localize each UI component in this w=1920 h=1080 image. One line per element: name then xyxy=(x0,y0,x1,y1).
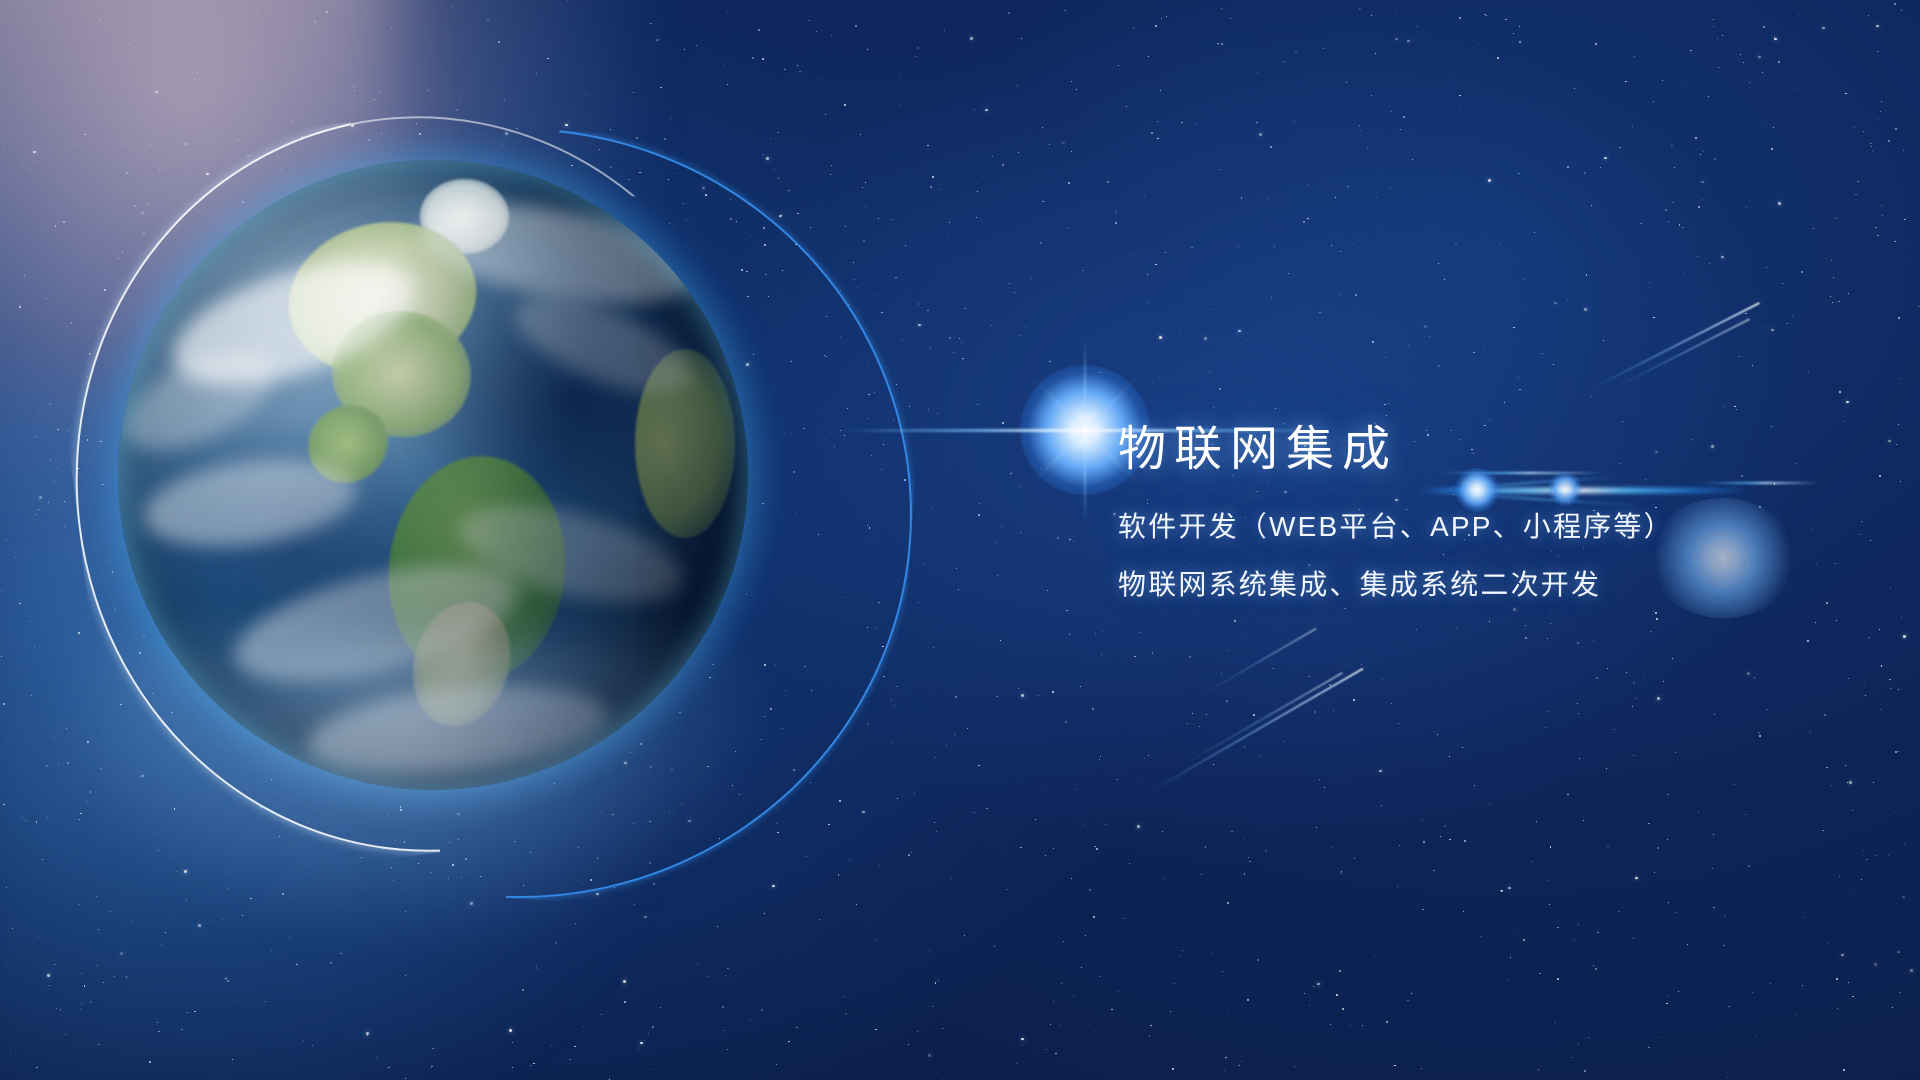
star-dot xyxy=(33,161,35,163)
star-dot xyxy=(964,308,965,309)
star-dot xyxy=(818,78,819,79)
star-dot xyxy=(1102,448,1103,449)
star-dot xyxy=(1807,640,1809,642)
star-dot xyxy=(940,189,941,190)
star-dot xyxy=(1304,993,1305,994)
star-dot xyxy=(1335,197,1336,198)
star-dot xyxy=(1675,912,1677,913)
star-dot xyxy=(1864,685,1865,686)
star-dot xyxy=(1868,637,1869,638)
star-dot xyxy=(448,878,449,879)
star-dot xyxy=(1614,729,1615,730)
star-dot xyxy=(1386,415,1387,416)
star-dot xyxy=(796,1027,798,1028)
star-dot xyxy=(1734,784,1735,785)
star-dot xyxy=(1740,54,1741,55)
star-dot xyxy=(937,413,938,414)
star-dot xyxy=(1504,402,1505,403)
star-dot xyxy=(1871,146,1873,148)
star-dot xyxy=(1536,820,1538,822)
star-dot xyxy=(1657,847,1660,850)
star-dot xyxy=(1371,95,1373,96)
star-dot xyxy=(1757,732,1759,734)
star-dot xyxy=(1002,422,1004,424)
star-dot xyxy=(1550,623,1552,624)
star-dot xyxy=(461,877,463,879)
star-dot xyxy=(222,918,223,919)
star-dot xyxy=(1480,936,1481,937)
star-dot xyxy=(805,856,807,857)
star-dot xyxy=(1844,421,1845,422)
star-dot xyxy=(1635,698,1637,699)
star-dot xyxy=(379,91,381,92)
star-dot xyxy=(770,138,771,139)
star-dot xyxy=(49,459,51,460)
star-dot xyxy=(670,118,671,119)
star-dot xyxy=(583,1026,584,1027)
star-dot xyxy=(1822,830,1824,831)
star-dot xyxy=(480,876,481,877)
star-dot xyxy=(1257,72,1258,73)
star-dot xyxy=(405,974,407,976)
star-dot xyxy=(1238,330,1241,332)
star-dot xyxy=(1068,227,1069,228)
star-dot xyxy=(1766,709,1768,711)
star-dot xyxy=(1021,694,1024,697)
star-dot xyxy=(951,878,952,879)
star-dot xyxy=(1323,48,1324,49)
star-dot xyxy=(977,191,978,192)
star-dot xyxy=(1667,793,1669,795)
star-dot xyxy=(312,1045,314,1047)
star-dot xyxy=(303,1040,305,1041)
star-dot xyxy=(1717,38,1718,39)
star-dot xyxy=(1554,302,1557,304)
star-dot xyxy=(1256,121,1258,123)
star-dot xyxy=(1557,927,1558,928)
star-dot xyxy=(1361,664,1362,665)
star-dot xyxy=(1354,858,1355,859)
star-dot xyxy=(1890,588,1891,589)
star-dot xyxy=(79,148,81,149)
star-dot xyxy=(1863,850,1864,851)
star-dot xyxy=(1000,640,1001,641)
star-dot xyxy=(1836,620,1838,621)
star-dot xyxy=(1339,970,1341,972)
star-dot xyxy=(962,358,964,360)
star-dot xyxy=(1598,1010,1599,1011)
star-dot xyxy=(3,148,5,149)
star-dot xyxy=(20,73,21,74)
star-dot xyxy=(1770,983,1771,984)
star-dot xyxy=(365,1031,369,1035)
star-dot xyxy=(1241,1061,1242,1062)
star-dot xyxy=(1836,1008,1838,1010)
star-dot xyxy=(1501,890,1503,892)
star-dot xyxy=(1422,909,1423,910)
star-dot xyxy=(166,130,168,131)
flare-vertical-streak xyxy=(1084,338,1086,522)
star-dot xyxy=(1165,252,1166,253)
star-dot xyxy=(533,1063,534,1064)
star-dot xyxy=(1338,78,1339,79)
star-dot xyxy=(1149,1035,1150,1036)
star-dot xyxy=(997,575,998,576)
star-dot xyxy=(66,728,67,729)
star-dot xyxy=(1147,274,1148,275)
star-dot xyxy=(881,312,883,314)
star-dot xyxy=(1346,82,1347,83)
star-dot xyxy=(1852,996,1853,997)
star-dot xyxy=(1863,131,1864,132)
star-dot xyxy=(1499,890,1501,892)
star-dot xyxy=(862,187,863,188)
star-dot xyxy=(664,138,666,140)
star-dot xyxy=(660,87,661,88)
star-dot xyxy=(1116,779,1118,780)
star-dot xyxy=(1590,396,1592,397)
star-dot xyxy=(978,514,980,515)
star-dot xyxy=(1850,892,1852,894)
star-dot xyxy=(808,19,810,21)
star-dot xyxy=(1065,721,1067,723)
star-dot xyxy=(1666,1003,1667,1004)
star-dot xyxy=(1350,1025,1351,1026)
star-dot xyxy=(1314,711,1316,713)
star-dot xyxy=(1542,353,1543,354)
star-dot xyxy=(636,137,638,139)
star-dot xyxy=(125,144,126,145)
star-dot xyxy=(1473,784,1475,786)
star-dot xyxy=(1105,824,1106,825)
star-dot xyxy=(1371,15,1373,16)
star-dot xyxy=(109,9,110,10)
star-dot xyxy=(575,923,576,924)
star-dot xyxy=(1259,133,1262,136)
star-dot xyxy=(1115,212,1116,213)
star-dot xyxy=(1449,839,1450,840)
star-dot xyxy=(1897,317,1899,319)
star-dot xyxy=(1213,764,1214,765)
star-dot xyxy=(1455,244,1457,245)
star-dot xyxy=(1217,43,1219,45)
star-dot xyxy=(157,849,159,851)
star-dot xyxy=(1675,786,1676,787)
star-dot xyxy=(155,91,158,93)
star-dot xyxy=(75,143,77,145)
star-dot xyxy=(37,509,38,510)
star-dot xyxy=(825,114,826,115)
star-dot xyxy=(449,842,450,843)
star-dot xyxy=(318,58,319,59)
star-dot xyxy=(1545,727,1546,728)
star-dot xyxy=(1519,389,1521,390)
shooting-star-mid-b xyxy=(1182,672,1343,766)
star-dot xyxy=(896,384,898,386)
star-dot xyxy=(1199,726,1201,728)
star-dot xyxy=(1443,629,1444,630)
star-dot xyxy=(1259,755,1261,757)
star-dot xyxy=(1088,1025,1090,1027)
star-dot xyxy=(1672,202,1674,204)
star-dot xyxy=(98,1044,99,1045)
star-dot xyxy=(932,176,934,178)
star-dot xyxy=(1081,967,1083,969)
star-dot xyxy=(875,939,876,940)
star-dot xyxy=(391,28,393,30)
star-dot xyxy=(25,820,26,821)
star-dot xyxy=(1898,378,1900,380)
star-dot xyxy=(1898,751,1899,752)
star-dot xyxy=(974,812,975,813)
star-dot xyxy=(1838,301,1839,302)
star-dot xyxy=(1593,965,1594,966)
star-dot xyxy=(418,863,419,864)
star-dot xyxy=(1234,620,1236,622)
star-dot xyxy=(1713,907,1715,909)
star-dot xyxy=(1430,266,1431,267)
star-dot xyxy=(946,745,948,747)
star-dot xyxy=(944,30,945,31)
star-dot xyxy=(1228,650,1230,651)
star-dot xyxy=(1353,244,1355,245)
star-dot xyxy=(1707,95,1709,97)
star-dot xyxy=(927,1053,931,1057)
star-dot xyxy=(1099,759,1100,760)
star-dot xyxy=(1220,42,1223,45)
star-dot xyxy=(465,858,468,861)
star-dot xyxy=(1094,633,1096,635)
star-dot xyxy=(853,262,854,263)
star-dot xyxy=(1671,145,1673,147)
star-dot xyxy=(1486,15,1488,16)
star-dot xyxy=(1663,681,1664,682)
star-dot xyxy=(1879,475,1882,478)
star-dot xyxy=(917,1031,918,1032)
star-dot xyxy=(53,736,54,737)
star-dot xyxy=(696,45,697,46)
star-dot xyxy=(1324,787,1326,789)
star-dot xyxy=(1094,846,1095,847)
star-dot xyxy=(1892,1007,1894,1008)
star-dot xyxy=(1313,986,1315,987)
star-dot xyxy=(1872,151,1873,152)
star-dot xyxy=(1174,983,1176,985)
star-dot xyxy=(1390,187,1392,188)
star-dot xyxy=(89,353,91,355)
star-dot xyxy=(1148,755,1149,756)
star-dot xyxy=(1416,26,1417,27)
star-dot xyxy=(1082,270,1084,271)
star-dot xyxy=(1331,846,1332,847)
star-dot xyxy=(1179,956,1180,957)
star-dot xyxy=(1447,1058,1449,1060)
star-dot xyxy=(198,924,201,927)
star-dot xyxy=(788,1040,790,1042)
star-dot xyxy=(762,154,763,155)
star-dot xyxy=(777,832,778,833)
star-dot xyxy=(1210,309,1211,310)
star-dot xyxy=(393,880,394,881)
star-dot xyxy=(1424,325,1428,329)
star-dot xyxy=(937,1072,938,1073)
star-dot xyxy=(831,35,832,36)
star-dot xyxy=(1219,388,1221,390)
star-dot xyxy=(1319,312,1320,313)
star-dot xyxy=(57,467,58,468)
star-dot xyxy=(1071,151,1072,152)
star-dot xyxy=(243,72,245,73)
star-dot xyxy=(1796,1014,1797,1015)
star-dot xyxy=(650,23,651,24)
star-dot xyxy=(1244,746,1245,747)
star-dot xyxy=(1083,824,1084,825)
star-dot xyxy=(48,502,49,503)
star-dot xyxy=(1848,293,1849,294)
star-dot xyxy=(1391,703,1392,704)
star-dot xyxy=(1315,826,1317,828)
star-dot xyxy=(1624,80,1626,82)
star-dot xyxy=(1882,215,1883,216)
star-dot xyxy=(66,326,67,327)
star-dot xyxy=(1709,263,1711,265)
star-dot xyxy=(1459,95,1460,96)
star-dot xyxy=(96,896,97,897)
star-dot xyxy=(1340,294,1341,295)
star-dot xyxy=(185,143,187,145)
star-dot xyxy=(131,921,132,922)
star-dot xyxy=(843,996,845,998)
star-dot xyxy=(1162,831,1164,832)
star-dot xyxy=(1895,128,1897,129)
star-dot xyxy=(567,0,569,1)
star-dot xyxy=(376,1056,378,1058)
star-dot xyxy=(1701,181,1704,183)
star-dot xyxy=(365,8,367,10)
star-dot xyxy=(624,1001,626,1003)
star-dot xyxy=(1881,101,1882,102)
star-dot xyxy=(726,11,728,13)
star-dot xyxy=(242,915,243,916)
star-dot xyxy=(1360,130,1361,131)
star-dot xyxy=(1342,1007,1344,1009)
star-dot xyxy=(1221,8,1222,9)
star-dot xyxy=(1398,723,1400,725)
star-dot xyxy=(1422,820,1423,821)
star-dot xyxy=(1348,153,1350,155)
star-dot xyxy=(1270,146,1272,148)
star-dot xyxy=(1244,873,1245,874)
star-dot xyxy=(1257,959,1259,961)
star-dot xyxy=(1294,121,1295,122)
star-dot xyxy=(1241,638,1243,640)
star-dot xyxy=(1861,521,1862,522)
star-dot xyxy=(1473,352,1474,353)
star-dot xyxy=(1778,202,1781,205)
star-dot xyxy=(432,1048,433,1049)
star-dot xyxy=(1548,879,1550,881)
star-dot xyxy=(656,38,660,41)
star-dot xyxy=(634,904,635,905)
star-dot xyxy=(87,741,89,742)
star-dot xyxy=(1547,638,1549,639)
star-dot xyxy=(1903,150,1904,151)
star-dot xyxy=(845,1013,846,1014)
star-dot xyxy=(1595,43,1597,45)
star-dot xyxy=(1006,889,1008,890)
star-dot xyxy=(638,1049,639,1050)
star-dot xyxy=(504,100,505,101)
star-dot xyxy=(788,190,790,191)
star-dot xyxy=(522,988,524,990)
star-dot xyxy=(909,406,910,407)
star-dot xyxy=(1713,18,1715,19)
star-dot xyxy=(923,564,925,566)
star-dot xyxy=(799,71,800,72)
star-dot xyxy=(250,898,252,899)
star-dot xyxy=(1888,140,1891,143)
star-dot xyxy=(1573,940,1575,941)
star-dot xyxy=(902,339,903,340)
star-dot xyxy=(955,696,957,698)
star-dot xyxy=(467,874,469,876)
star-dot xyxy=(1508,979,1509,980)
star-dot xyxy=(918,324,921,326)
star-dot xyxy=(783,69,785,71)
star-dot xyxy=(388,1066,390,1068)
star-dot xyxy=(961,342,963,344)
star-dot xyxy=(949,337,951,339)
star-dot xyxy=(831,165,832,166)
star-dot xyxy=(1603,340,1605,341)
star-dot xyxy=(596,893,600,896)
star-dot xyxy=(98,794,99,795)
star-dot xyxy=(1306,218,1308,220)
star-dot xyxy=(623,980,626,983)
star-dot xyxy=(1041,408,1042,409)
star-dot xyxy=(1456,628,1457,629)
star-dot xyxy=(996,542,997,543)
star-dot xyxy=(0,590,2,591)
star-dot xyxy=(24,275,25,276)
star-dot xyxy=(1416,629,1417,630)
star-dot xyxy=(1319,779,1320,780)
star-dot xyxy=(1461,49,1462,50)
star-dot xyxy=(79,904,80,905)
star-dot xyxy=(1040,468,1042,469)
star-dot xyxy=(1846,401,1849,403)
star-dot xyxy=(1040,242,1042,243)
star-dot xyxy=(1408,345,1409,346)
star-dot xyxy=(1062,141,1066,144)
star-dot xyxy=(1888,440,1891,442)
star-dot xyxy=(916,211,917,212)
star-dot xyxy=(1317,983,1320,986)
star-dot xyxy=(1382,678,1384,679)
star-dot xyxy=(1283,741,1284,742)
star-dot xyxy=(1478,43,1480,45)
star-dot xyxy=(103,982,104,983)
star-dot xyxy=(1756,1035,1758,1036)
star-dot xyxy=(1518,377,1519,378)
star-dot xyxy=(1895,751,1897,753)
star-dot xyxy=(1303,221,1305,223)
star-dot xyxy=(1283,61,1285,62)
star-dot xyxy=(1714,714,1715,715)
star-dot xyxy=(3,804,4,805)
star-dot xyxy=(1752,992,1754,993)
star-dot xyxy=(1712,868,1713,869)
